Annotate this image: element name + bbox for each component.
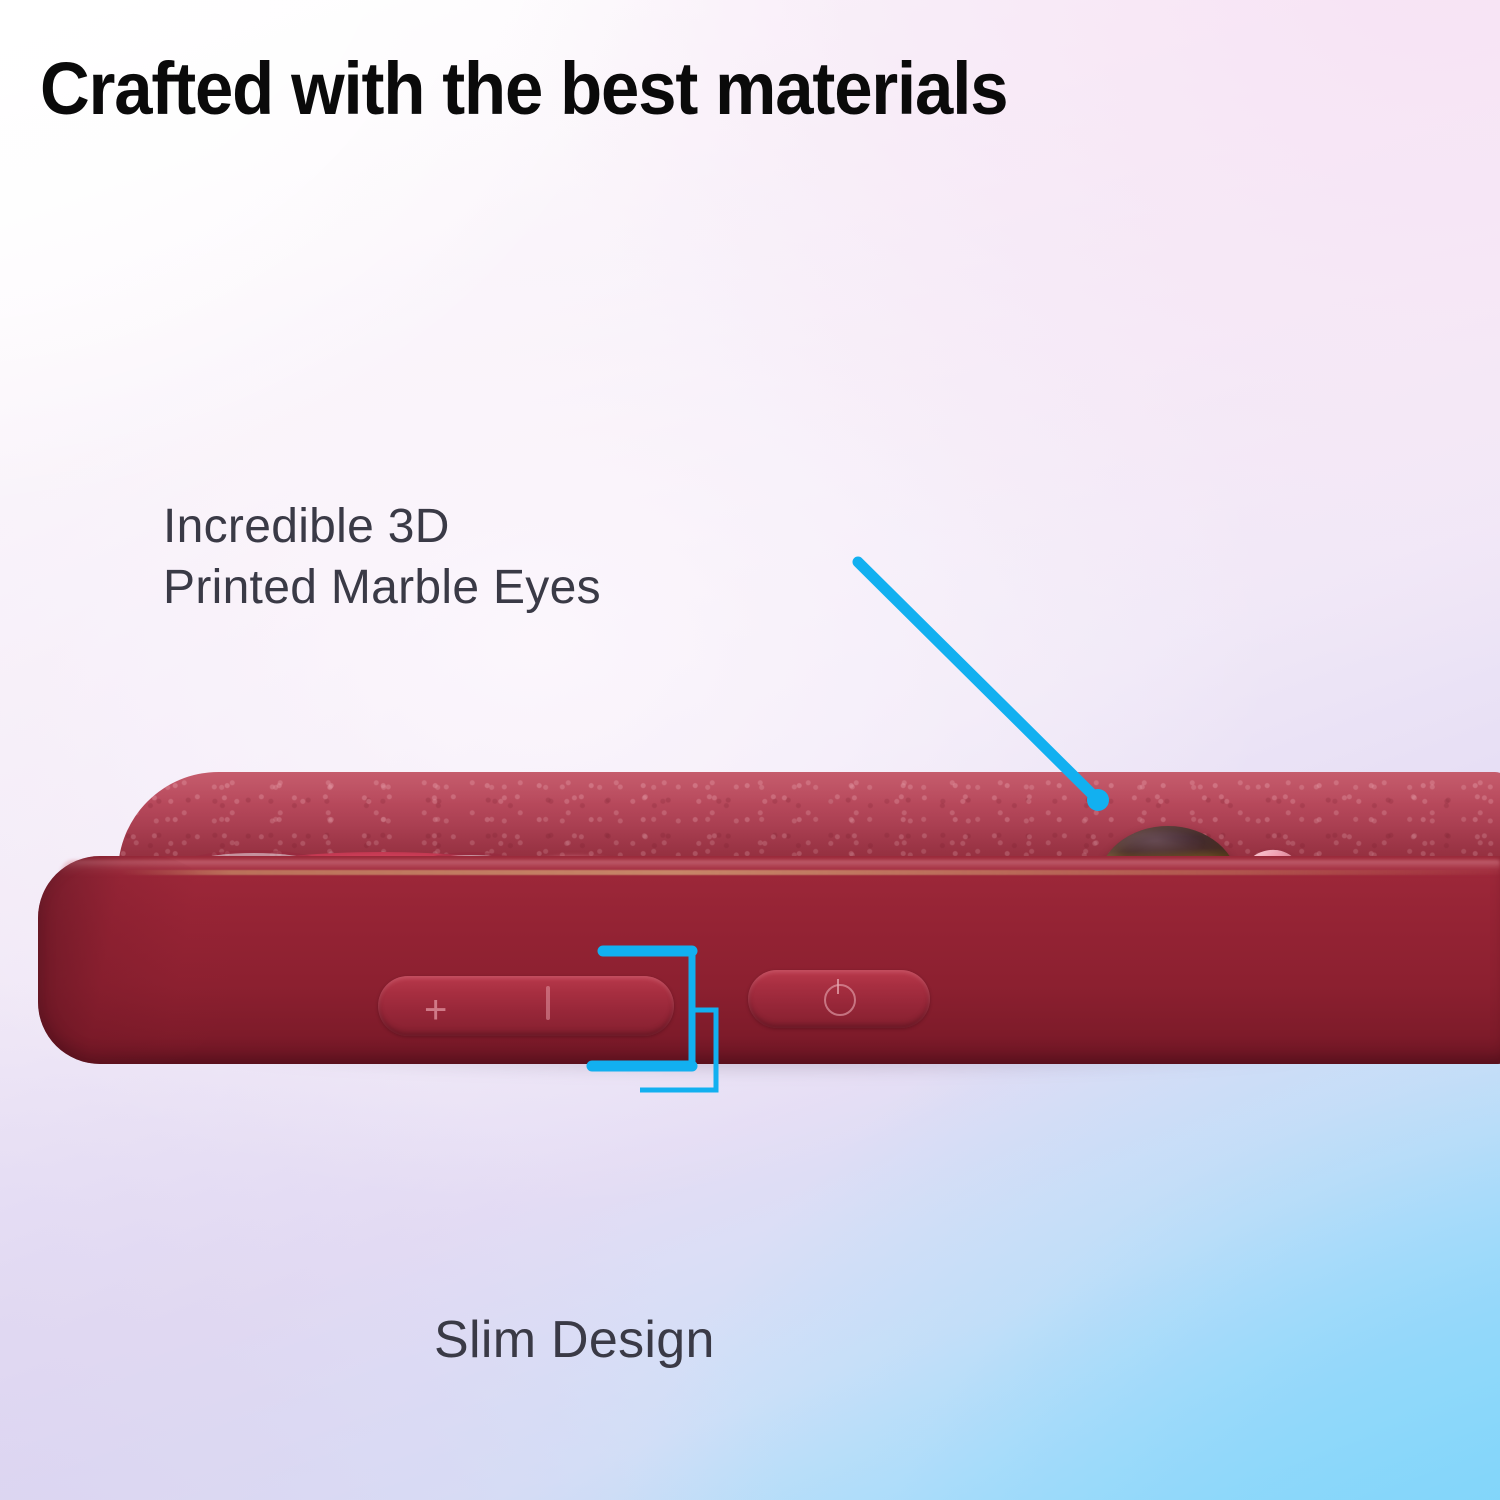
volume-down-icon bbox=[546, 986, 550, 1020]
volume-up-icon: + bbox=[424, 990, 447, 1030]
power-icon bbox=[824, 984, 856, 1016]
marble-eye-gloss bbox=[1117, 830, 1201, 856]
volume-button bbox=[378, 976, 674, 1036]
product-feature-graphic: Crafted with the best materials + bbox=[0, 0, 1500, 1500]
callout-label-line-1: Incredible 3D bbox=[163, 496, 601, 557]
case-edge-seam bbox=[120, 870, 1500, 875]
callout-label-marble-eyes: Incredible 3D Printed Marble Eyes bbox=[163, 496, 601, 619]
case-left-corner-shading bbox=[38, 856, 228, 1064]
callout-label-slim-design: Slim Design bbox=[434, 1307, 715, 1374]
case-side-wall bbox=[38, 856, 1500, 1064]
product-image: + bbox=[0, 760, 1500, 1120]
callout-label-line-2: Printed Marble Eyes bbox=[163, 557, 601, 618]
background-gradient bbox=[0, 0, 1500, 1500]
page-headline: Crafted with the best materials bbox=[40, 46, 1007, 131]
